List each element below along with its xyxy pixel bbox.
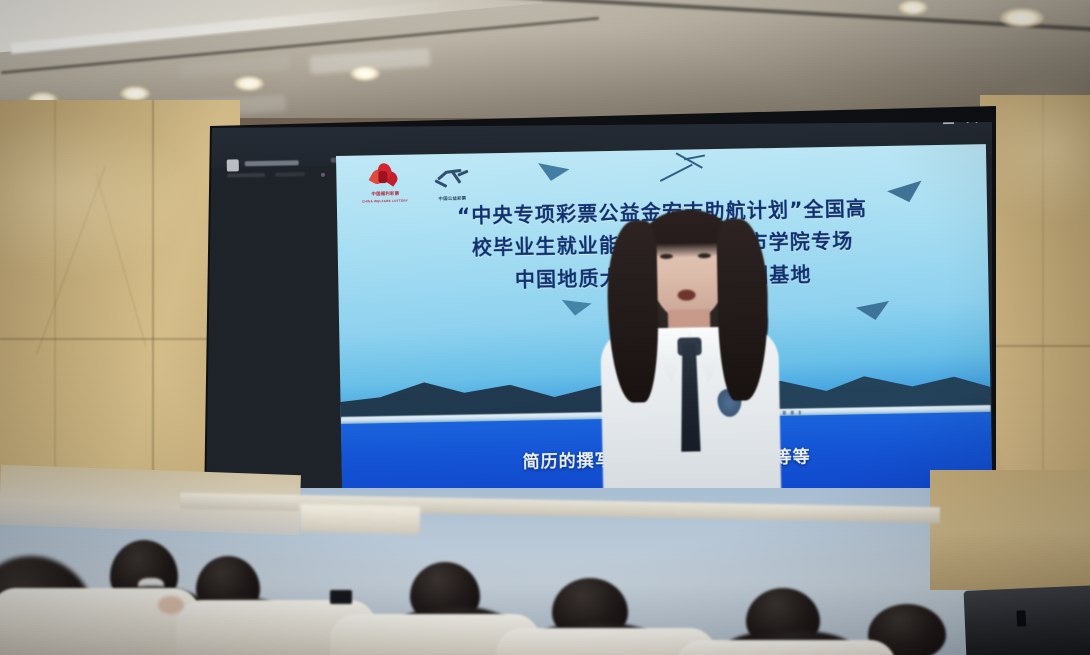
lottery-logo-icon <box>369 163 399 190</box>
ceiling-panel-2 <box>180 56 291 78</box>
presentation-slide: 中国福利彩票 CHINA WELFARE LOTTERY 中国公益彩票 <box>336 144 992 500</box>
attendee-hand <box>158 596 184 614</box>
equipment-slot <box>1016 610 1026 626</box>
av-equipment-case <box>964 585 1090 655</box>
podium <box>300 504 421 535</box>
china-public-welfare-logo: 中国公益彩票 <box>433 168 472 202</box>
maximize-icon[interactable] <box>942 122 955 125</box>
public-welfare-star-icon <box>433 168 471 195</box>
attendee-phone <box>330 590 352 604</box>
downlight-6-icon <box>898 0 928 15</box>
projection-screen: 中国福利彩票 CHINA WELFARE LOTTERY 中国公益彩票 <box>196 106 996 506</box>
slide-logo-row: 中国福利彩票 CHINA WELFARE LOTTERY 中国公益彩票 <box>360 162 471 204</box>
paper-plane-arrow-icon <box>658 155 711 186</box>
downlight-2-icon <box>120 86 150 101</box>
downlight-5-icon <box>1000 8 1044 28</box>
downlight-3-icon <box>234 76 264 91</box>
triangle-mid-low-icon <box>560 300 591 318</box>
presenter-figure <box>592 200 787 499</box>
close-icon[interactable] <box>965 122 978 125</box>
screen-display: 中国福利彩票 CHINA WELFARE LOTTERY 中国公益彩票 <box>204 122 992 500</box>
seat-back <box>676 640 896 655</box>
lower-wall-right <box>930 470 1090 590</box>
app-icon <box>227 159 239 171</box>
triangle-low-right-icon <box>856 301 892 323</box>
triangle-left-icon <box>535 163 569 184</box>
china-welfare-lottery-logo: 中国福利彩票 CHINA WELFARE LOTTERY <box>360 163 409 204</box>
lottery-logo-caption: 中国福利彩票 <box>371 191 399 197</box>
lecture-hall-scene: 中国福利彩票 CHINA WELFARE LOTTERY 中国公益彩票 <box>0 0 1090 655</box>
downlight-4-icon <box>350 66 380 81</box>
